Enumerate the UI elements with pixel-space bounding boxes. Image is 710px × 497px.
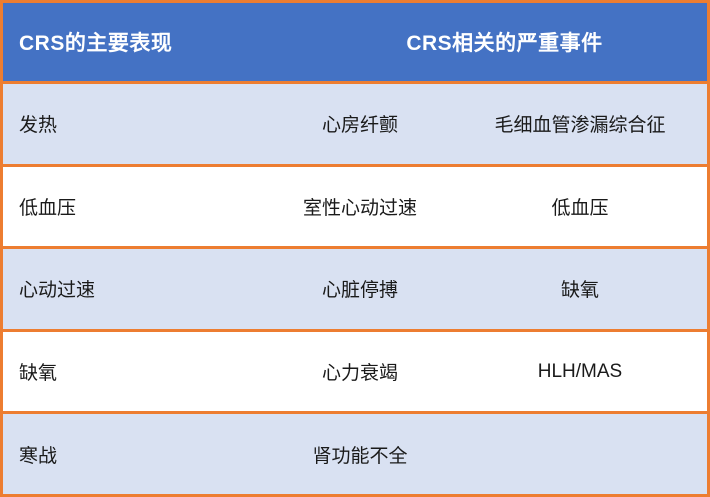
table-row: 缺氧 心力衰竭 HLH/MAS [3, 332, 707, 415]
cell-manifestation: 低血压 [3, 193, 249, 220]
cell-manifestation: 寒战 [3, 441, 249, 468]
cell-manifestation: 发热 [3, 110, 249, 137]
cell-serious-event-a: 心力衰竭 [249, 358, 471, 385]
table-row: 低血压 室性心动过速 低血压 [3, 167, 707, 250]
table-header-cell-manifestations: CRS的主要表现 [3, 27, 374, 57]
cell-serious-event-a: 心脏停搏 [249, 275, 471, 302]
cell-serious-event-a: 心房纤颤 [249, 110, 471, 137]
cell-manifestation: 缺氧 [3, 358, 249, 385]
cell-serious-event-a: 室性心动过速 [249, 193, 471, 220]
table-body: 发热 心房纤颤 毛细血管渗漏综合征 低血压 室性心动过速 低血压 心动过速 心脏… [3, 84, 707, 494]
crs-table: CRS的主要表现 CRS相关的严重事件 发热 心房纤颤 毛细血管渗漏综合征 低血… [0, 0, 710, 497]
cell-serious-event-b: 毛细血管渗漏综合征 [471, 110, 707, 137]
cell-manifestation: 心动过速 [3, 275, 249, 302]
cell-serious-event-b: HLH/MAS [471, 361, 707, 383]
table-row: 寒战 肾功能不全 [3, 414, 707, 494]
cell-serious-event-b: 缺氧 [471, 275, 707, 302]
table-header-cell-serious-events: CRS相关的严重事件 [374, 27, 707, 57]
table-row: 心动过速 心脏停搏 缺氧 [3, 249, 707, 332]
table-row: 发热 心房纤颤 毛细血管渗漏综合征 [3, 84, 707, 167]
table-header-row: CRS的主要表现 CRS相关的严重事件 [3, 3, 707, 84]
cell-serious-event-a: 肾功能不全 [249, 441, 471, 468]
cell-serious-event-b: 低血压 [471, 193, 707, 220]
